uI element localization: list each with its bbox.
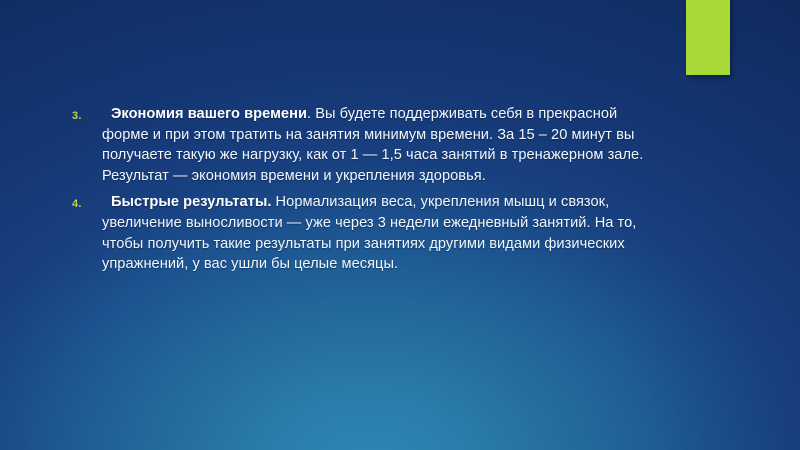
list-marker-3: 3. bbox=[62, 104, 102, 127]
list-item: 4. Быстрые результаты. Нормализация веса… bbox=[62, 192, 662, 274]
green-accent-rectangle bbox=[686, 0, 730, 75]
slide-body-text: 3. Экономия вашего времени. Вы будете по… bbox=[62, 104, 662, 281]
list-marker-4: 4. bbox=[62, 192, 102, 215]
paragraph-4-lead: Быстрые результаты. bbox=[111, 194, 271, 210]
paragraph-3: Экономия вашего времени. Вы будете подде… bbox=[102, 104, 658, 186]
paragraph-4: Быстрые результаты. Нормализация веса, у… bbox=[102, 192, 658, 274]
slide-canvas: 3. Экономия вашего времени. Вы будете по… bbox=[0, 0, 800, 450]
list-item: 3. Экономия вашего времени. Вы будете по… bbox=[62, 104, 662, 186]
paragraph-3-lead: Экономия вашего времени bbox=[111, 106, 307, 122]
